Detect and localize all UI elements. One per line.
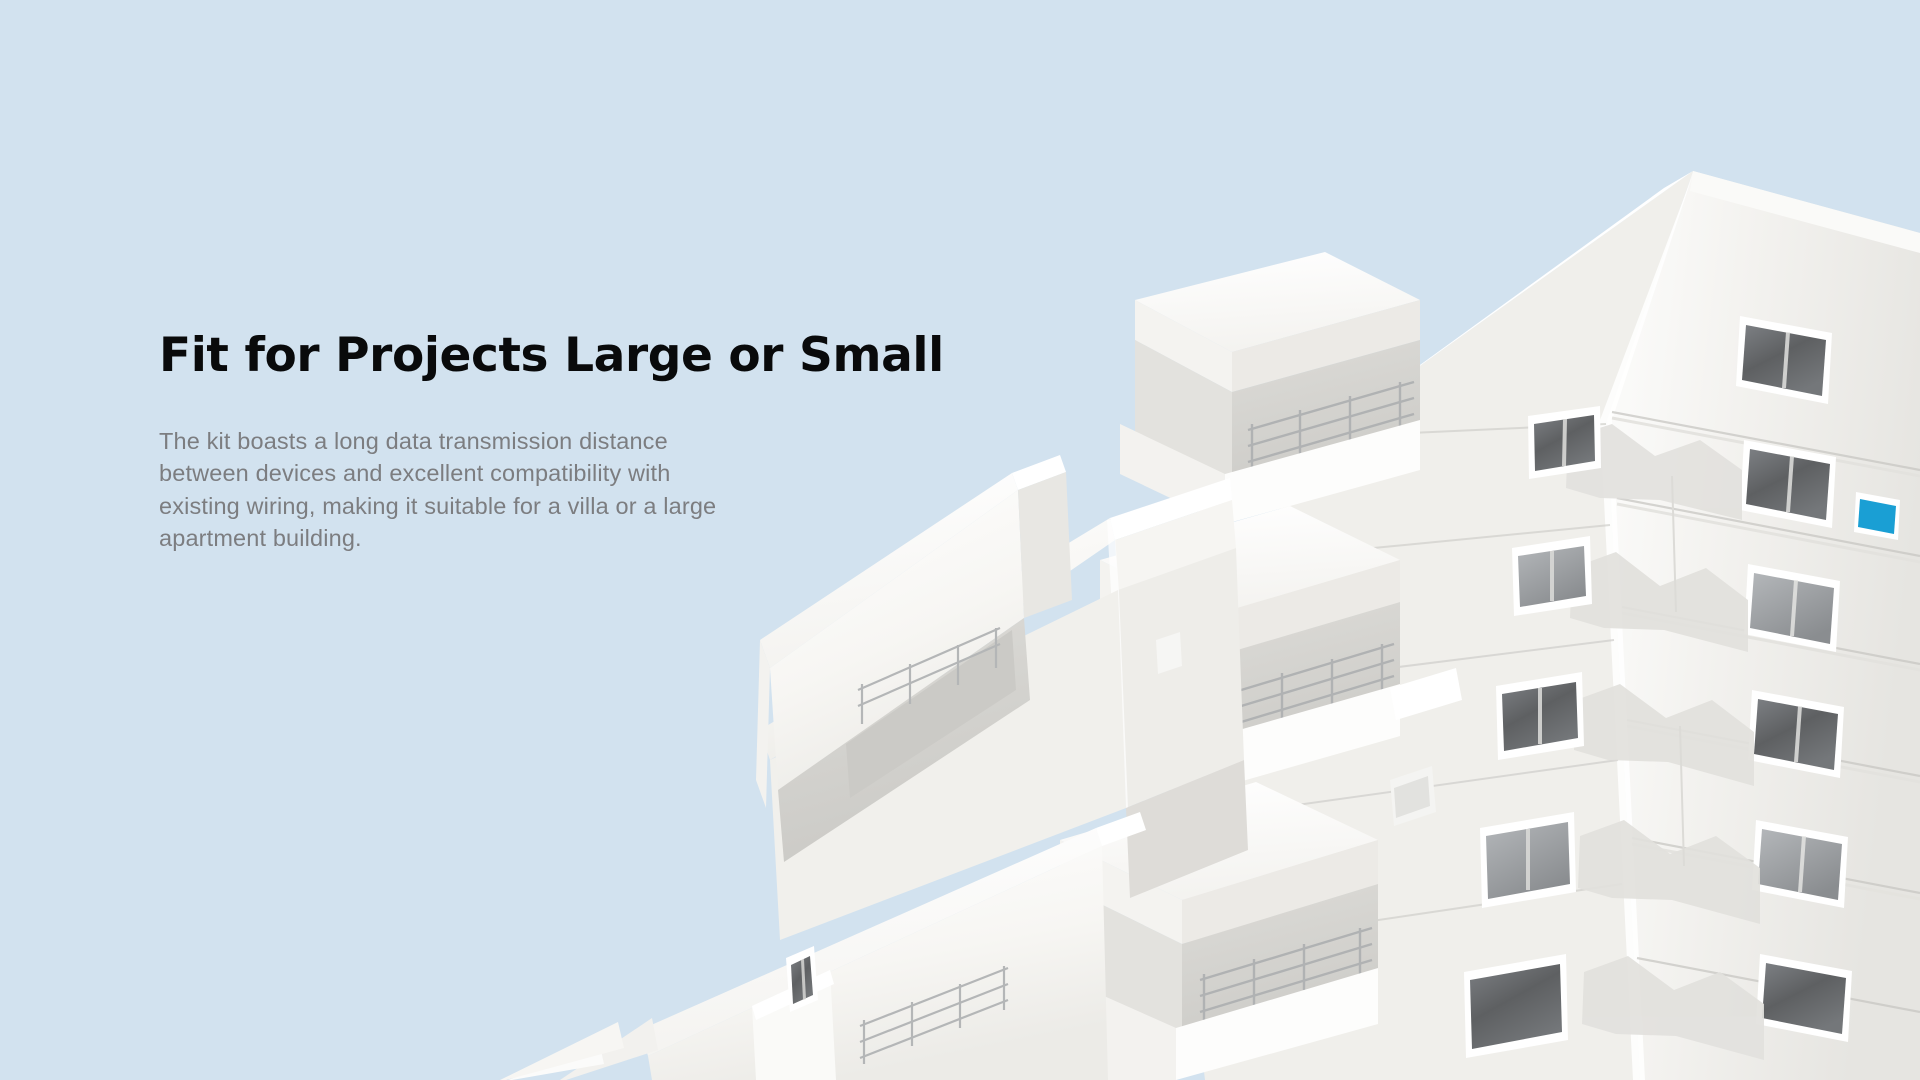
window <box>1528 406 1601 479</box>
page-title: Fit for Projects Large or Small <box>159 330 799 383</box>
window <box>1496 672 1584 760</box>
window <box>1480 812 1576 908</box>
hero-description: The kit boasts a long data transmission … <box>159 383 727 555</box>
window <box>1512 536 1592 616</box>
hero-copy-block: Fit for Projects Large or Small The kit … <box>159 330 799 555</box>
hero-section: Fit for Projects Large or Small The kit … <box>0 0 1920 1080</box>
window <box>1464 954 1568 1058</box>
